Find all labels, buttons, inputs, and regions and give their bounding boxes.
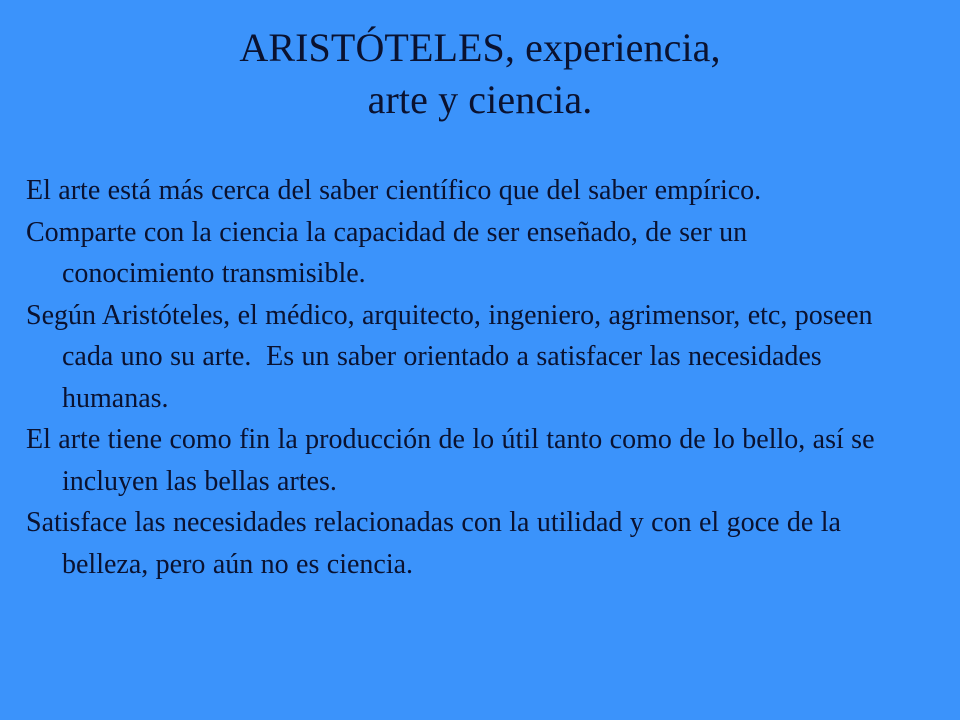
body-paragraph: Según Aristóteles, el médico, arquitecto… bbox=[26, 295, 902, 420]
slide-title: ARISTÓTELES, experiencia, arte y ciencia… bbox=[0, 22, 960, 126]
body-paragraph: El arte tiene como fin la producción de … bbox=[26, 419, 902, 502]
body-paragraph: El arte está más cerca del saber científ… bbox=[26, 170, 902, 212]
title-line-1: ARISTÓTELES, experiencia, bbox=[40, 22, 920, 74]
body-paragraph: Comparte con la ciencia la capacidad de … bbox=[26, 212, 902, 295]
slide: ARISTÓTELES, experiencia, arte y ciencia… bbox=[0, 0, 960, 720]
body-paragraph: Satisface las necesidades relacionadas c… bbox=[26, 502, 902, 585]
title-line-2: arte y ciencia. bbox=[40, 74, 920, 126]
slide-body: El arte está más cerca del saber científ… bbox=[26, 170, 902, 585]
